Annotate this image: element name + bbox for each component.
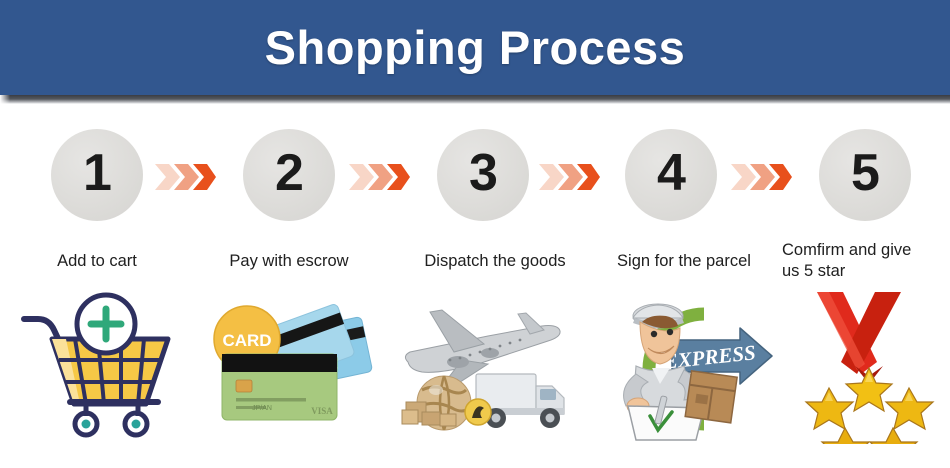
shopping-process-infographic: Shopping Process 1 2 3 4 5 [0, 0, 950, 468]
step-number-2: 2 [275, 147, 303, 199]
step-circle-4: 4 [625, 129, 717, 221]
step-number-5: 5 [851, 147, 879, 199]
svg-text:JP/AN: JP/AN [252, 405, 272, 412]
chevron-arrow-2 [348, 162, 410, 192]
step-number-4: 4 [657, 147, 685, 199]
gold-star-medal-icon [795, 284, 945, 444]
step-circle-3: 3 [437, 129, 529, 221]
step-label-1: Add to cart [22, 251, 172, 272]
header-banner: Shopping Process [0, 0, 950, 95]
delivery-man-express-icon: EXPRESS [592, 288, 782, 443]
shopping-cart-plus-icon [18, 282, 178, 447]
step-number-1: 1 [83, 147, 111, 199]
page-title: Shopping Process [265, 24, 686, 71]
steps-container: 1 2 3 4 5 [0, 104, 950, 468]
step-circle-1: 1 [51, 129, 143, 221]
step-label-4: Sign for the parcel [594, 251, 774, 272]
chevron-arrow-3 [538, 162, 600, 192]
airplane-truck-globe-icon [392, 290, 578, 440]
svg-text:VISA: VISA [311, 406, 333, 416]
step-label-2: Pay with escrow [214, 251, 364, 272]
step-circle-5: 5 [819, 129, 911, 221]
header-shadow-divider [0, 95, 950, 104]
step-number-3: 3 [469, 147, 497, 199]
chevron-arrow-1 [154, 162, 216, 192]
svg-text:CARD: CARD [222, 331, 271, 350]
step-label-3: Dispatch the goods [404, 251, 586, 272]
credit-cards-icon: VISA CARD [200, 292, 375, 432]
step-label-5: Comfirm and give us 5 star [782, 240, 932, 282]
chevron-arrow-4 [730, 162, 792, 192]
step-circle-2: 2 [243, 129, 335, 221]
